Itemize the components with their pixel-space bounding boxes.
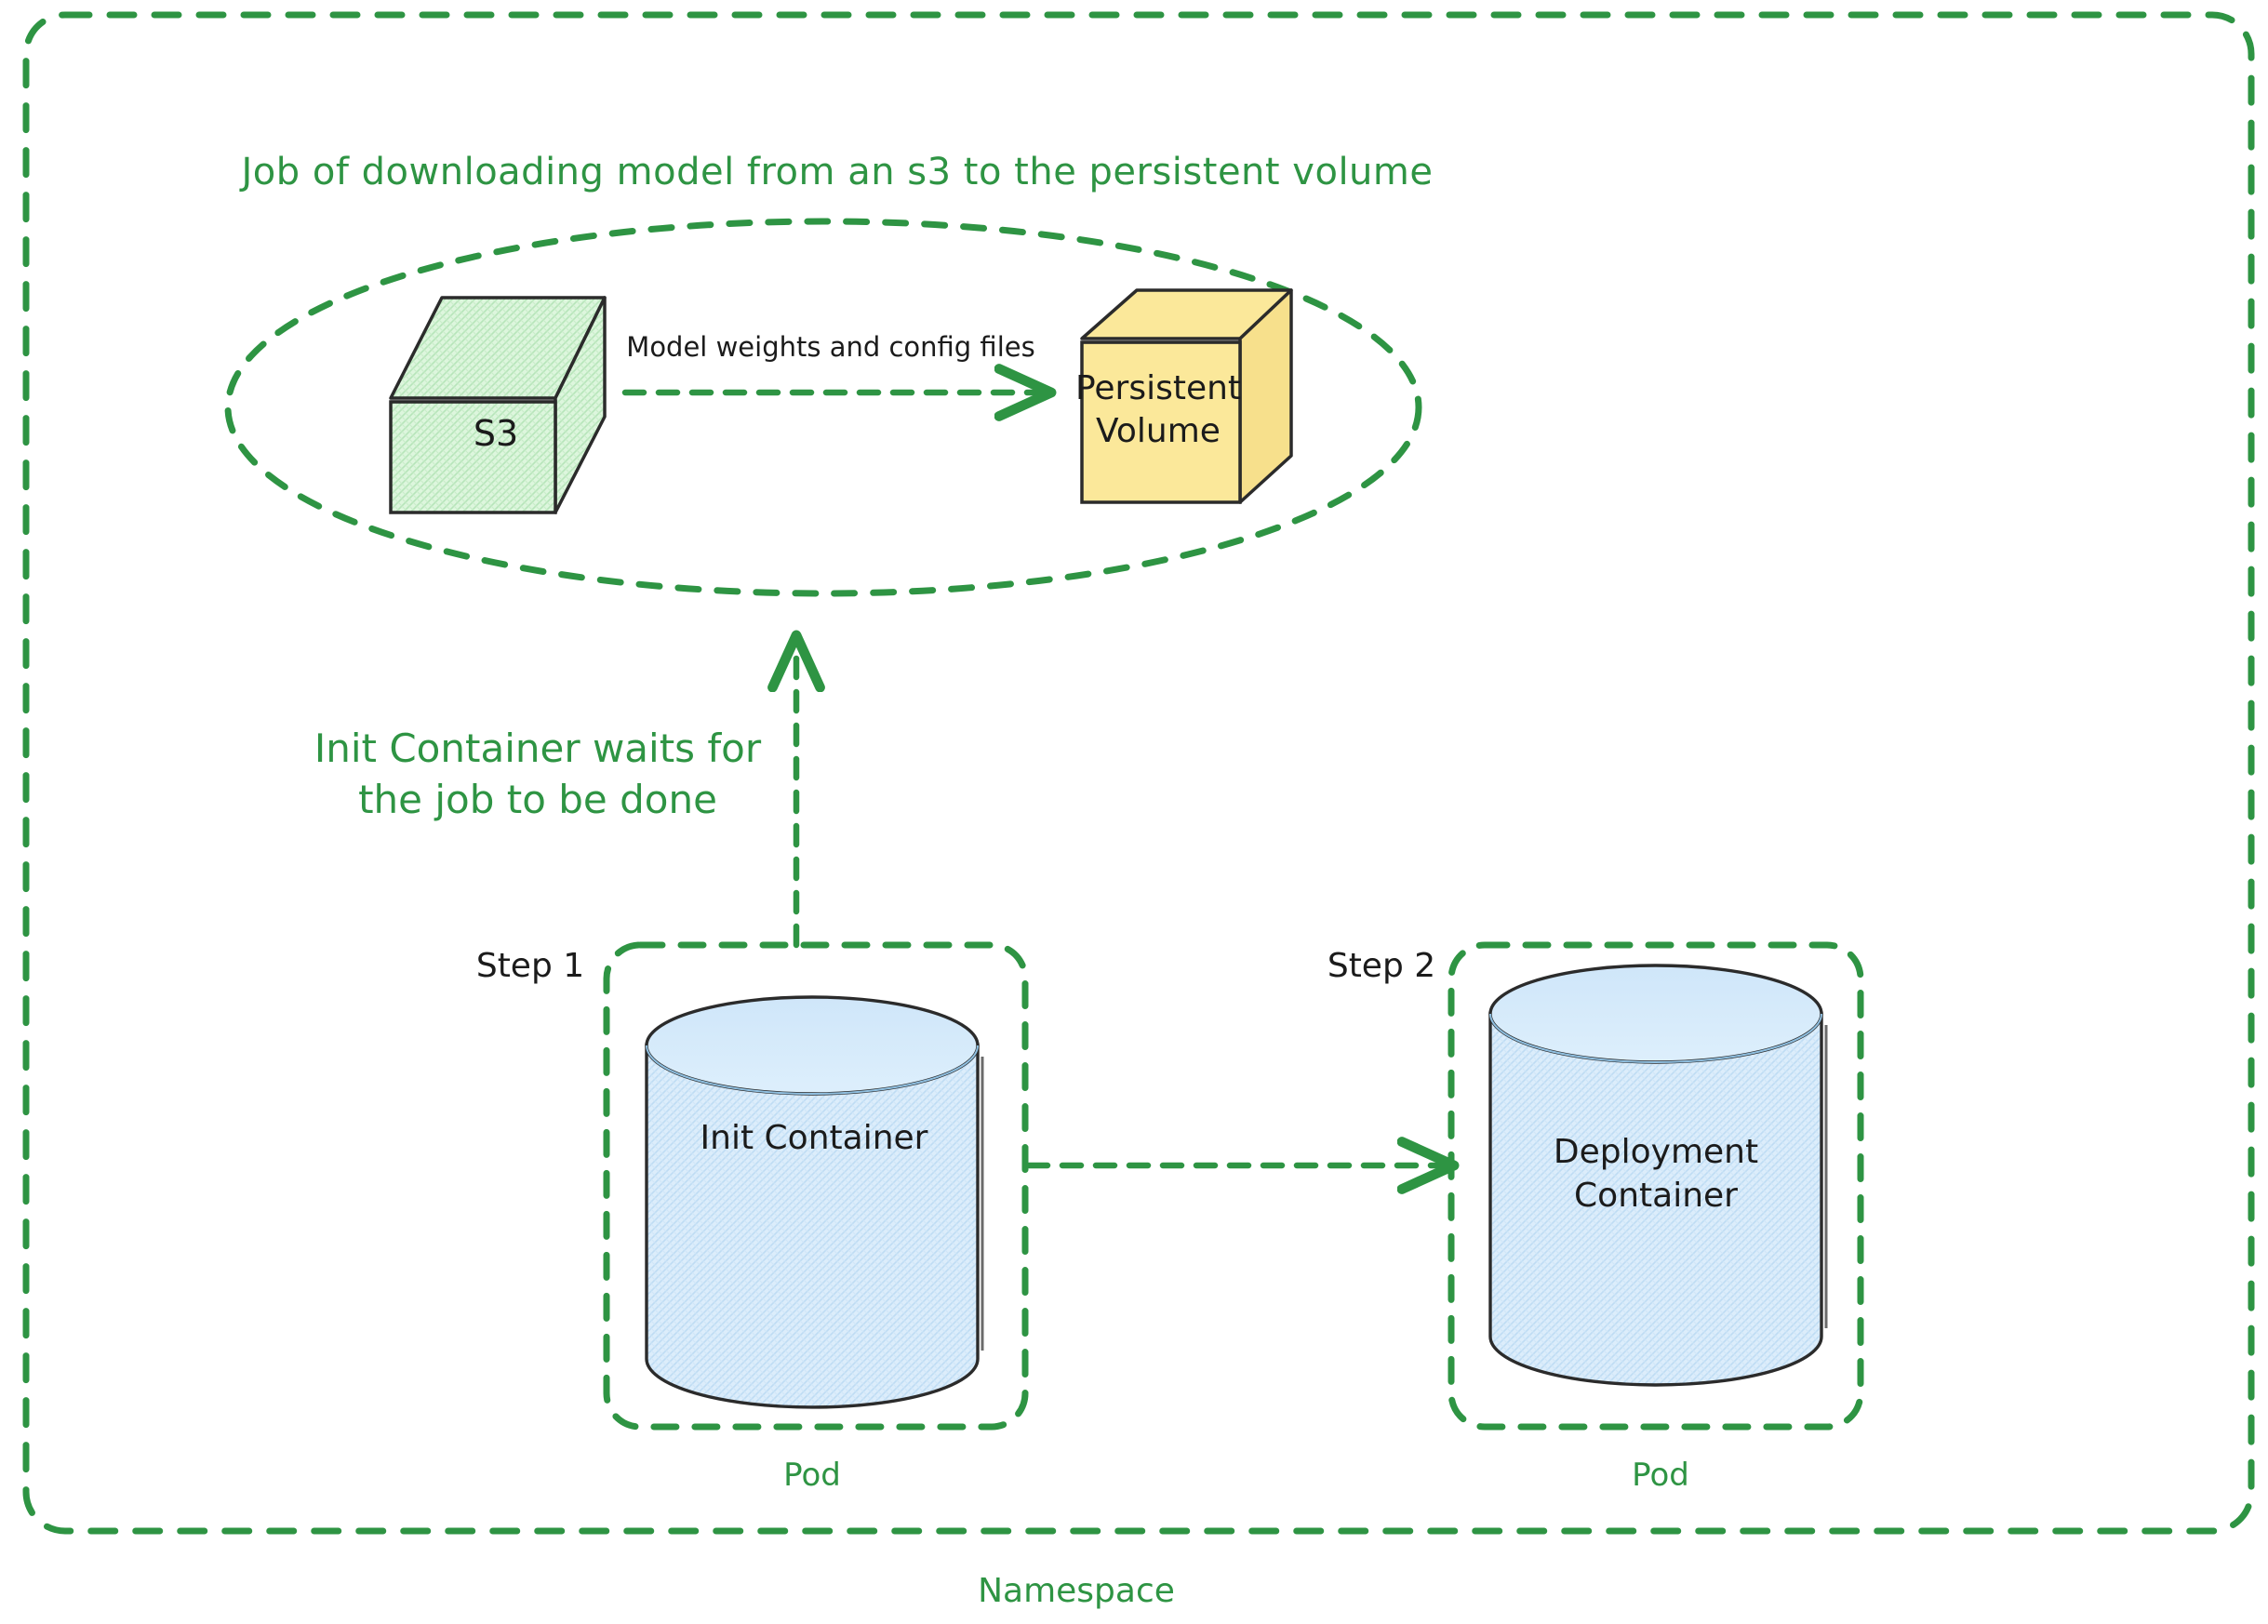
s3-cube-icon	[391, 298, 605, 512]
init-container-cylinder-icon	[647, 997, 982, 1407]
diagram-canvas	[0, 0, 2268, 1624]
persistent-volume-cube-icon	[1082, 290, 1291, 502]
namespace-boundary	[26, 15, 2251, 1531]
deployment-container-cylinder-icon	[1490, 965, 1826, 1385]
